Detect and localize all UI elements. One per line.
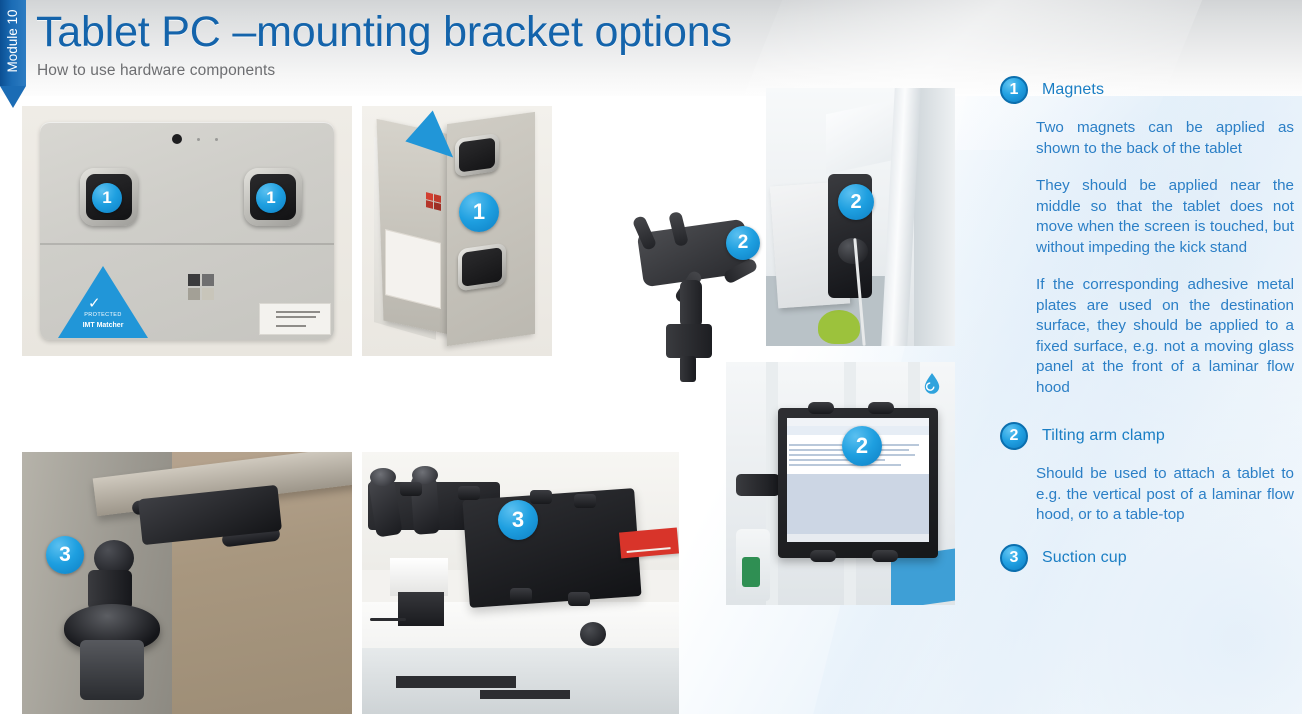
green-chair xyxy=(818,310,860,344)
clamp-c-clamp xyxy=(666,324,712,358)
legend-title-tilting-arm-clamp: Tilting arm clamp xyxy=(1042,427,1165,445)
tablet-regulatory-label xyxy=(385,229,441,309)
legend-item-2-header: 2 Tilting arm clamp xyxy=(1000,422,1294,450)
legend-badge-3: 3 xyxy=(1000,544,1028,572)
module-tab-label: Module 10 xyxy=(0,0,26,84)
cradle-grip xyxy=(868,402,894,414)
cradle-grip xyxy=(808,402,834,414)
tablet-kickstand-seam xyxy=(40,243,334,245)
cradle-grip xyxy=(872,550,898,562)
photo-tablet-kickstand-magnets: 1 xyxy=(362,106,552,356)
photo-microscope-bench: 3 xyxy=(362,452,679,714)
eyepiece-lens xyxy=(370,468,396,486)
photo-marker-1: 1 xyxy=(92,183,122,213)
module-tab: Module 10 xyxy=(0,0,26,86)
bench-bar xyxy=(396,676,516,688)
sticker-brand-label: IMT Matcher xyxy=(66,322,140,329)
app-empty-panel xyxy=(787,474,929,534)
magnet-puck xyxy=(455,133,499,177)
microscope-body xyxy=(390,558,448,596)
legend-badge-2: 2 xyxy=(1000,422,1028,450)
tablet-device xyxy=(462,488,641,608)
cradle-grip xyxy=(510,588,532,602)
legend-body-tilting-arm-clamp: Should be used to attach a tablet to e.g… xyxy=(1036,464,1294,526)
cable xyxy=(370,618,406,621)
microsoft-logo-icon xyxy=(188,274,214,300)
legend-item-1-header: 1 Magnets xyxy=(1000,76,1294,104)
magnet-puck xyxy=(458,243,506,292)
legend-badge-1: 1 xyxy=(1000,76,1028,104)
suction-cup-base xyxy=(80,640,144,700)
legend-panel: 1 Magnets Two magnets can be applied as … xyxy=(1000,76,1294,572)
photo-tablet-screen-on-hood: 2 xyxy=(726,362,955,605)
legend-paragraph: If the corresponding adhesive metal plat… xyxy=(1036,275,1294,398)
bench-bar xyxy=(480,690,570,699)
legend-body-magnets: Two magnets can be applied as shown to t… xyxy=(1036,118,1294,398)
slide-canvas: Tablet PC –mounting bracket options How … xyxy=(0,0,1302,714)
legend-title-suction-cup: Suction cup xyxy=(1042,549,1127,567)
photo-tablet-back-with-magnets: ✓ PROTECTED IMT Matcher 1 1 xyxy=(22,106,352,356)
legend-paragraph: They should be applied near the middle s… xyxy=(1036,176,1294,258)
photo-marker-1: 1 xyxy=(459,192,499,232)
bottle-trigger xyxy=(742,557,760,587)
water-drop-icon xyxy=(923,372,941,394)
photo-marker-2: 2 xyxy=(838,184,874,220)
legend-paragraph: Two magnets can be applied as shown to t… xyxy=(1036,118,1294,159)
photo-marker-2: 2 xyxy=(842,426,882,466)
photo-marker-2: 2 xyxy=(726,226,760,260)
photo-marker-1: 1 xyxy=(256,183,286,213)
tablet-camera-icon xyxy=(172,134,182,144)
cradle-grip xyxy=(400,482,422,496)
red-power-strip xyxy=(619,528,679,559)
cradle-grip xyxy=(810,550,836,562)
cradle-grip xyxy=(458,486,480,500)
page-subtitle: How to use hardware components xyxy=(37,62,275,80)
module-tab-pointer xyxy=(0,86,26,108)
cradle-grip xyxy=(568,592,590,606)
photo-marker-3: 3 xyxy=(46,536,84,574)
sticker-protected-label: PROTECTED xyxy=(70,312,136,318)
check-icon: ✓ xyxy=(88,296,101,311)
legend-paragraph: Should be used to attach a tablet to e.g… xyxy=(1036,464,1294,526)
cradle-grip xyxy=(574,494,596,508)
windows-taskbar xyxy=(787,534,929,542)
tablet-regulatory-label xyxy=(259,303,331,335)
photo-suction-cup-mount: 3 xyxy=(22,452,352,714)
clamp-neck xyxy=(680,280,702,328)
cradle-grip xyxy=(530,490,552,504)
legend-title-magnets: Magnets xyxy=(1042,81,1104,99)
hood-side-panel xyxy=(914,88,955,346)
tablet-sensor-dot xyxy=(197,138,200,141)
tablet-sensor-dot xyxy=(215,138,218,141)
clamp-screw xyxy=(680,356,696,382)
page-title: Tablet PC –mounting bracket options xyxy=(36,6,732,58)
photo-tablet-on-post: 2 xyxy=(766,88,955,346)
bench-knob xyxy=(580,622,606,646)
photo-marker-3: 3 xyxy=(498,500,538,540)
legend-item-3-header: 3 Suction cup xyxy=(1000,544,1294,572)
sticker-fineprint xyxy=(62,331,144,335)
clamp-arm xyxy=(736,474,780,496)
